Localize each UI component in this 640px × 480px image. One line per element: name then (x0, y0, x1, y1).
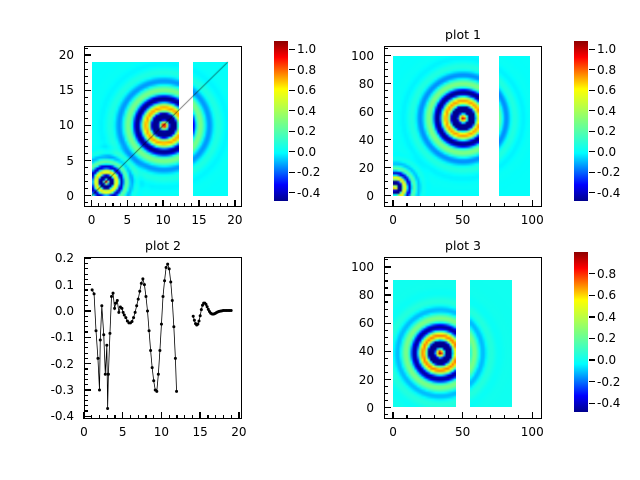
y-minor-tick (384, 337, 388, 338)
y-major-tick (384, 266, 391, 267)
y-minor-tick (384, 280, 388, 281)
x-minor-tick (406, 415, 407, 419)
colorbar-tick-label: 0.4 (597, 311, 616, 323)
y-minor-tick (384, 386, 388, 387)
y-minor-tick (384, 372, 388, 373)
x-minor-tick (476, 415, 477, 419)
y-tick-label: 100 (0, 261, 374, 273)
x-minor-tick (518, 415, 519, 419)
y-tick-label: 40 (0, 345, 374, 357)
y-minor-tick (384, 358, 388, 359)
heatmap-image (393, 280, 456, 407)
colorbar-tick-label: 0.0 (597, 354, 616, 366)
x-minor-tick (504, 415, 505, 419)
y-minor-tick (384, 309, 388, 310)
y-minor-tick (384, 344, 388, 345)
x-tick-label: 100 (521, 426, 544, 438)
y-tick-label: 0 (0, 402, 374, 414)
heatmap-image (470, 280, 512, 407)
heatmap-patch-right-patch (470, 280, 512, 407)
colorbar-tick-label: 0.2 (597, 332, 616, 344)
y-minor-tick (384, 330, 388, 331)
colorbar-tick-label: -0.2 (597, 376, 620, 388)
y-tick-label: 60 (0, 317, 374, 329)
y-minor-tick (384, 414, 388, 415)
colorbar-tick-label: -0.4 (597, 397, 620, 409)
y-minor-tick (384, 273, 388, 274)
plot-title: plot 3 (445, 238, 481, 253)
figure-canvas: 0510152005101520-0.4-0.20.00.20.40.60.81… (0, 0, 640, 480)
y-minor-tick (384, 316, 388, 317)
colorbar (574, 252, 588, 412)
y-minor-tick (384, 287, 388, 288)
heatmap-patch-left-patch (393, 280, 456, 407)
y-minor-tick (384, 259, 388, 260)
x-tick-label: 50 (455, 426, 470, 438)
y-major-tick (384, 323, 391, 324)
colorbar-tick (589, 338, 595, 339)
colorbar-gradient (574, 252, 588, 412)
y-tick-label: 20 (0, 374, 374, 386)
colorbar-tick (589, 295, 595, 296)
colorbar-tick (589, 381, 595, 382)
y-major-tick (384, 294, 391, 295)
colorbar-tick (589, 403, 595, 404)
x-major-tick (532, 412, 533, 419)
y-minor-tick (384, 301, 388, 302)
y-major-tick (384, 407, 391, 408)
y-minor-tick (384, 393, 388, 394)
y-minor-tick (384, 365, 388, 366)
x-major-tick (392, 412, 393, 419)
x-minor-tick (434, 415, 435, 419)
y-major-tick (384, 379, 391, 380)
panel-plot3: plot 3050100020406080100-0.4-0.20.00.20.… (0, 0, 640, 480)
colorbar-tick-label: 0.6 (597, 289, 616, 301)
x-minor-tick (490, 415, 491, 419)
y-minor-tick (384, 400, 388, 401)
colorbar-tick (589, 316, 595, 317)
x-major-tick (462, 412, 463, 419)
y-major-tick (384, 351, 391, 352)
colorbar-tick (589, 273, 595, 274)
x-minor-tick (448, 415, 449, 419)
x-minor-tick (420, 415, 421, 419)
colorbar-tick-label: 0.8 (597, 268, 616, 280)
y-tick-label: 80 (0, 289, 374, 301)
colorbar-tick (589, 359, 595, 360)
x-tick-label: 0 (389, 426, 397, 438)
